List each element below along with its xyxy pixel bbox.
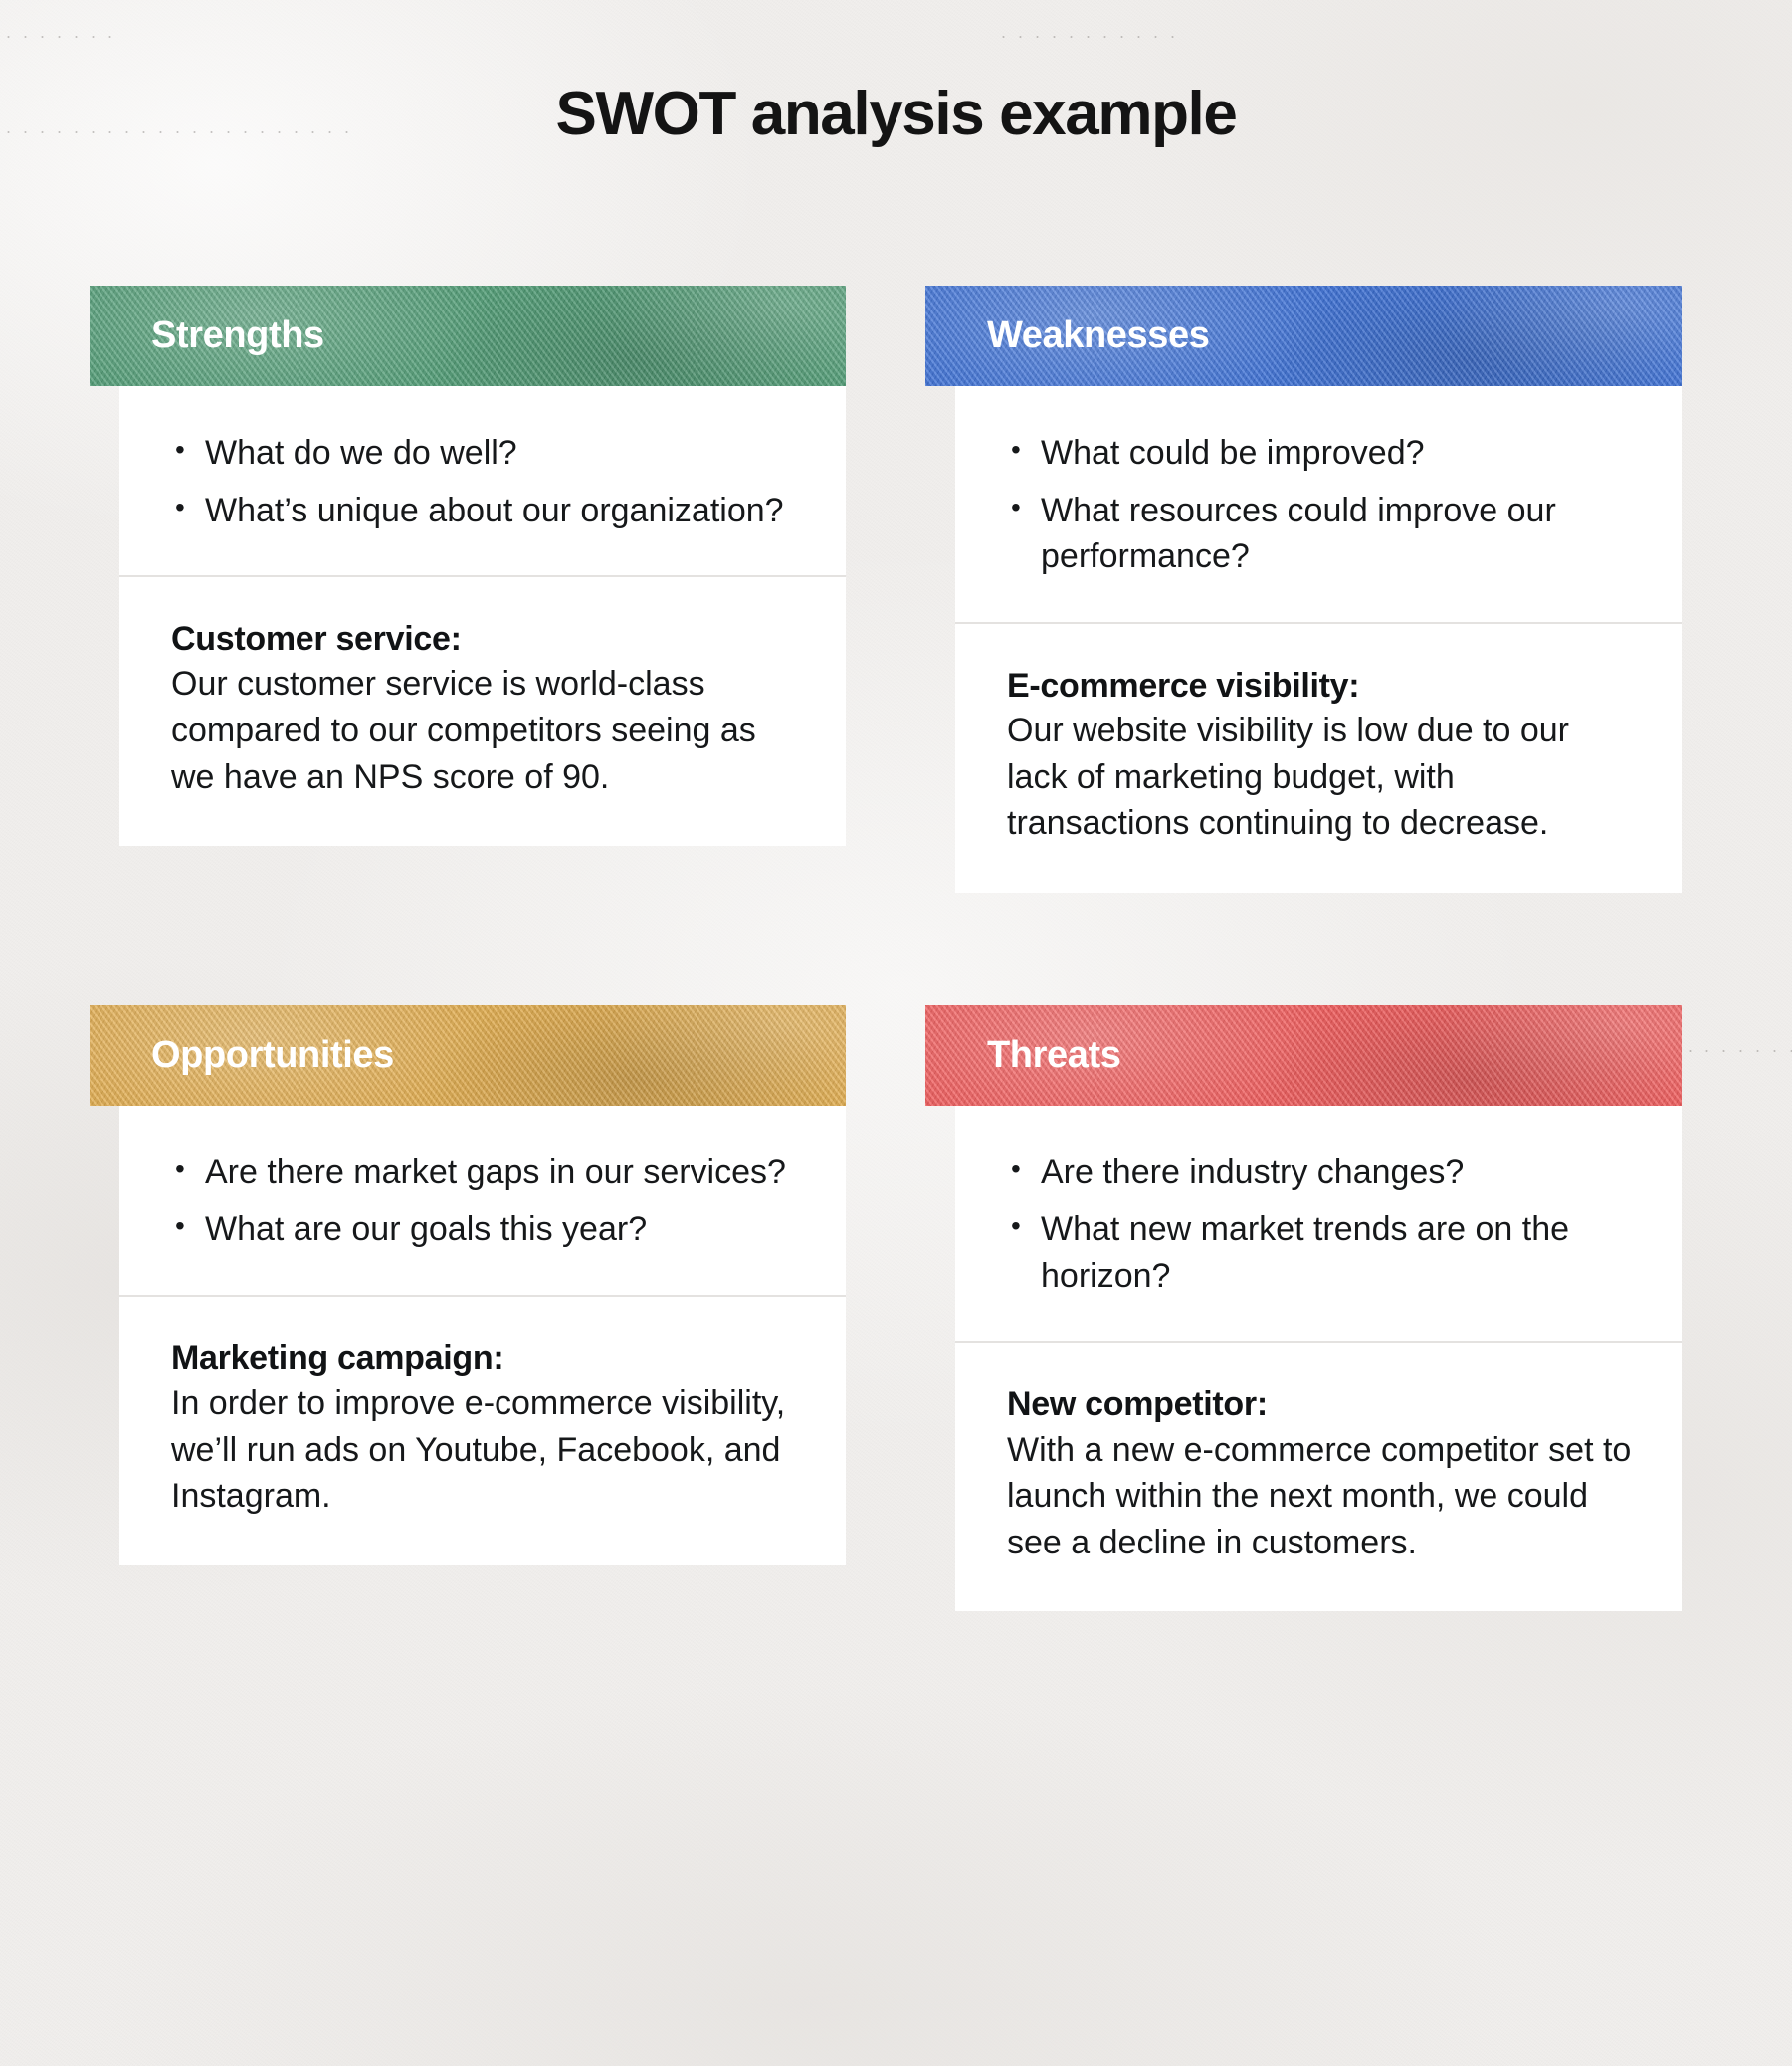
detail-title: Customer service: — [171, 620, 462, 658]
quadrant-card-weaknesses: What could be improved? What resources c… — [955, 386, 1682, 893]
quadrant-questions: What do we do well? What’s unique about … — [119, 386, 846, 575]
question-list: Are there market gaps in our services? W… — [171, 1149, 802, 1253]
detail-title: Marketing campaign: — [171, 1340, 503, 1377]
quadrant-header-label: Strengths — [151, 314, 324, 357]
decorative-dot-rule — [995, 36, 1174, 38]
detail-text: Our customer service is world-class comp… — [171, 665, 756, 795]
list-item: Are there market gaps in our services? — [171, 1149, 802, 1196]
quadrant-header-weaknesses: Weaknesses — [925, 286, 1682, 386]
quadrant-opportunities: Opportunities Are there market gaps in o… — [90, 1005, 846, 1612]
list-item: What do we do well? — [171, 430, 802, 477]
quadrant-questions: What could be improved? What resources c… — [955, 386, 1682, 622]
detail-text: Our website visibility is low due to our… — [1007, 712, 1569, 842]
quadrant-header-label: Opportunities — [151, 1034, 394, 1077]
list-item: What resources could improve our perform… — [1007, 488, 1638, 580]
quadrant-questions: Are there market gaps in our services? W… — [119, 1106, 846, 1295]
detail-title: New competitor: — [1007, 1385, 1268, 1423]
detail-text: With a new e-commerce competitor set to … — [1007, 1431, 1631, 1561]
list-item: What could be improved? — [1007, 430, 1638, 477]
quadrant-header-opportunities: Opportunities — [90, 1005, 846, 1106]
quadrant-weaknesses: Weaknesses What could be improved? What … — [925, 286, 1682, 893]
list-item: What are our goals this year? — [171, 1206, 802, 1253]
quadrant-detail: Customer service: Our customer service i… — [119, 577, 846, 846]
question-list: What could be improved? What resources c… — [1007, 430, 1638, 580]
quadrant-card-opportunities: Are there market gaps in our services? W… — [119, 1106, 846, 1565]
quadrant-threats: Threats Are there industry changes? What… — [925, 1005, 1682, 1612]
detail-title: E-commerce visibility: — [1007, 667, 1359, 705]
quadrant-header-label: Weaknesses — [987, 314, 1209, 357]
decorative-dot-rule — [1682, 1050, 1792, 1052]
list-item: What’s unique about our organization? — [171, 488, 802, 534]
quadrant-detail: Marketing campaign: In order to improve … — [119, 1297, 846, 1565]
quadrant-header-label: Threats — [987, 1034, 1120, 1077]
quadrant-card-strengths: What do we do well? What’s unique about … — [119, 386, 846, 846]
question-list: Are there industry changes? What new mar… — [1007, 1149, 1638, 1300]
swot-grid: Strengths What do we do well? What’s uni… — [90, 286, 1682, 1611]
quadrant-questions: Are there industry changes? What new mar… — [955, 1106, 1682, 1342]
quadrant-detail: New competitor: With a new e-commerce co… — [955, 1343, 1682, 1611]
page-title: SWOT analysis example — [0, 82, 1792, 146]
quadrant-card-threats: Are there industry changes? What new mar… — [955, 1106, 1682, 1612]
list-item: What new market trends are on the horizo… — [1007, 1206, 1638, 1299]
detail-text: In order to improve e-commerce visibilit… — [171, 1384, 785, 1515]
decorative-dot-rule — [0, 36, 119, 38]
quadrant-detail: E-commerce visibility: Our website visib… — [955, 624, 1682, 893]
question-list: What do we do well? What’s unique about … — [171, 430, 802, 533]
quadrant-header-strengths: Strengths — [90, 286, 846, 386]
quadrant-header-threats: Threats — [925, 1005, 1682, 1106]
list-item: Are there industry changes? — [1007, 1149, 1638, 1196]
quadrant-strengths: Strengths What do we do well? What’s uni… — [90, 286, 846, 893]
